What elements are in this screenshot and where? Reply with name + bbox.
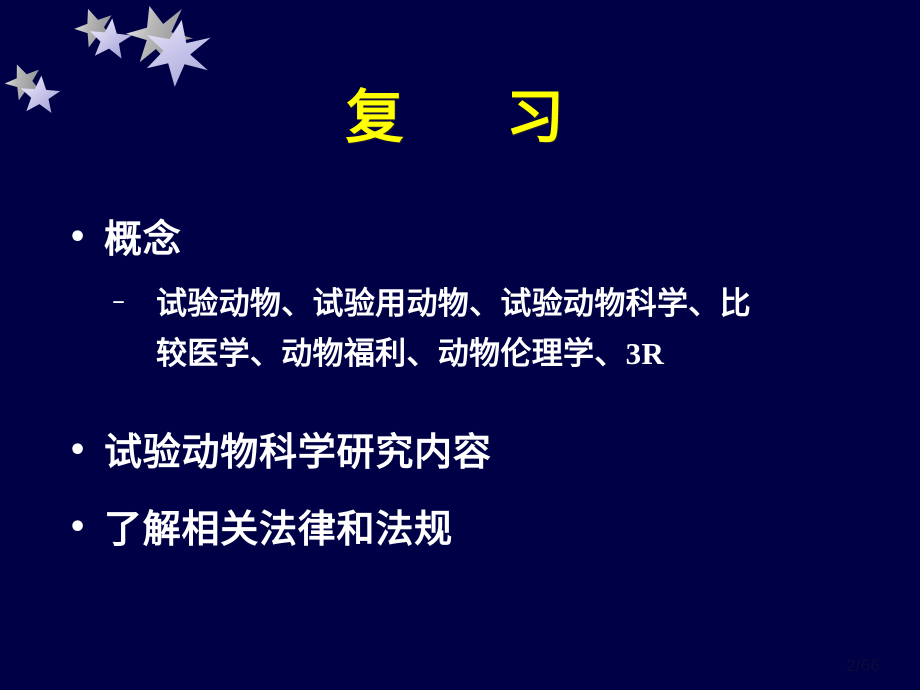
sub-bullet-label-1: 试验动物、试验用动物、试验动物科学、比 [156,279,846,329]
bullet-marker-icon: • [62,431,104,470]
sub-bullet-group-1: – 试验动物、试验用动物、试验动物科学、比 较医学、动物福利、动物伦理学、3R [62,279,892,379]
sub-bullet-item-1: – 试验动物、试验用动物、试验动物科学、比 [62,279,892,329]
star-large [120,0,216,92]
bullet-item-1: • 概念 [62,218,892,261]
slide-title: 复 习 [0,88,920,146]
bullet-label-2: 试验动物科学研究内容 [104,431,892,474]
bullet-marker-icon: • [62,508,104,547]
slide-body: • 概念 – 试验动物、试验用动物、试验动物科学、比 较医学、动物福利、动物伦理… [62,218,892,556]
bullet-label-1: 概念 [104,218,892,261]
bullet-label-3: 了解相关法律和法规 [104,508,892,551]
dash-marker-icon: – [62,279,156,323]
page-number: 2/66 [846,656,880,676]
bullet-marker-icon: • [62,218,104,257]
presentation-slide: 复 习 • 概念 – 试验动物、试验用动物、试验动物科学、比 较医学、动物福利、… [0,0,920,690]
bullet-item-2: • 试验动物科学研究内容 [62,431,892,474]
sub-bullet-label-2-han: 较医学、动物福利、动物伦理学、 [156,336,626,372]
star-medium [69,2,133,59]
bullet-item-3: • 了解相关法律和法规 [62,508,892,551]
sub-bullet-label-2-latin: 3R [626,336,665,371]
sub-bullet-item-2: 较医学、动物福利、动物伦理学、3R [62,329,892,379]
sub-bullet-label-2: 较医学、动物福利、动物伦理学、3R [156,329,846,379]
